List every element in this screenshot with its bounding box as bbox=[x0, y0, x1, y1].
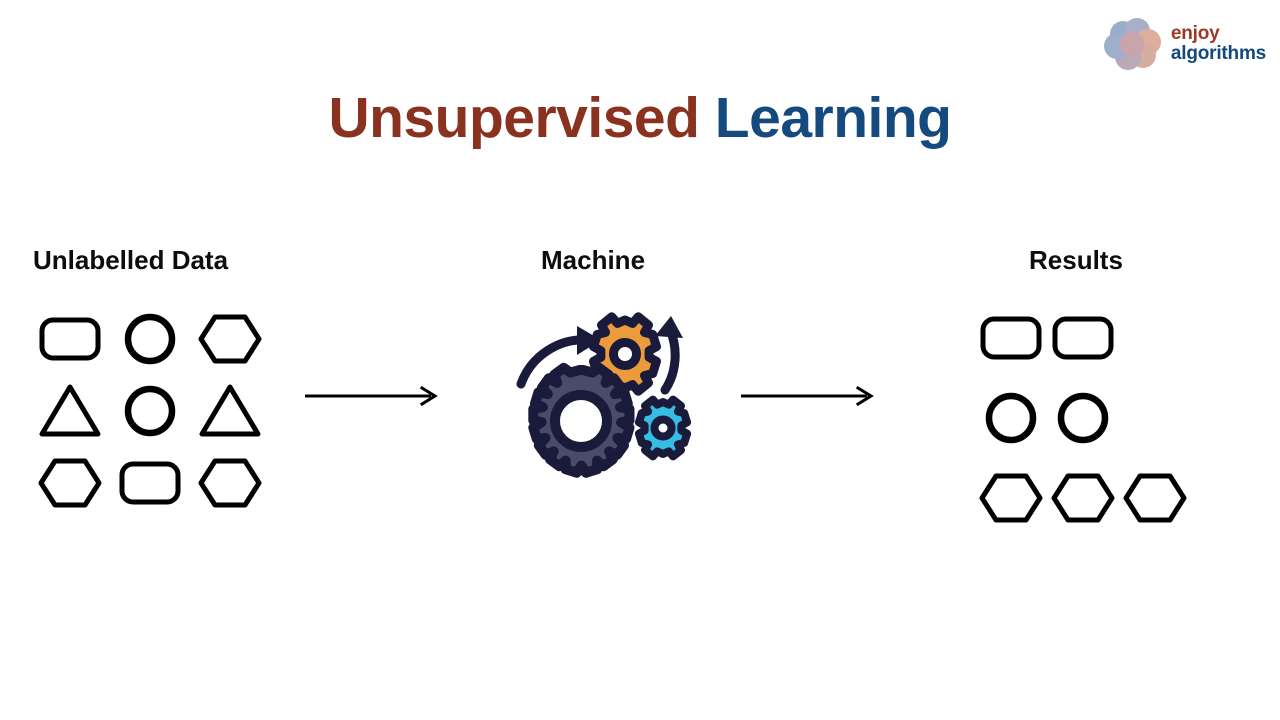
enjoy-algorithms-rosette-icon bbox=[1101, 18, 1163, 70]
shape-cell bbox=[1047, 385, 1119, 451]
hexagon-shape-icon bbox=[1122, 467, 1188, 529]
shape-cell bbox=[1047, 465, 1119, 531]
circle-shape-icon bbox=[1050, 387, 1116, 449]
brand-word-enjoy: enjoy bbox=[1171, 24, 1266, 44]
shape-cell bbox=[975, 385, 1047, 451]
large-gear-icon bbox=[533, 368, 629, 473]
flow-arrow-machine-to-results-icon bbox=[739, 385, 879, 407]
shape-cell bbox=[114, 378, 186, 444]
triangle-shape-icon bbox=[197, 380, 263, 442]
page-title-part-unsupervised: Unsupervised bbox=[328, 86, 699, 150]
shape-cell bbox=[34, 450, 106, 516]
shape-cell bbox=[34, 378, 106, 444]
rounded-rect-shape-icon bbox=[1050, 307, 1116, 369]
rotation-arrow-right-icon bbox=[655, 316, 683, 390]
brand-word-algorithms: algorithms bbox=[1171, 44, 1266, 64]
brand-wordmark: enjoy algorithms bbox=[1171, 24, 1266, 64]
shape-cell bbox=[114, 450, 186, 516]
shape-cell bbox=[194, 378, 266, 444]
hexagon-shape-icon bbox=[37, 452, 103, 514]
rounded-rect-shape-icon bbox=[978, 307, 1044, 369]
hexagon-shape-icon bbox=[197, 452, 263, 514]
shape-cell bbox=[1119, 465, 1191, 531]
results-shape-grid bbox=[975, 298, 1191, 538]
brand-logo[interactable]: enjoy algorithms bbox=[1101, 18, 1266, 70]
circle-shape-icon bbox=[117, 380, 183, 442]
shape-cell bbox=[114, 306, 186, 372]
hexagon-shape-icon bbox=[197, 308, 263, 370]
cyan-gear-icon bbox=[639, 400, 687, 457]
page-title-part-learning: Learning bbox=[715, 86, 952, 150]
column-label-results: Results bbox=[1029, 245, 1123, 276]
shape-cell bbox=[975, 305, 1047, 371]
shape-cell bbox=[194, 450, 266, 516]
unlabelled-data-shape-grid bbox=[30, 303, 270, 519]
shape-cell bbox=[975, 465, 1047, 531]
column-label-machine: Machine bbox=[541, 245, 645, 276]
shape-cell bbox=[34, 306, 106, 372]
hexagon-shape-icon bbox=[978, 467, 1044, 529]
circle-shape-icon bbox=[978, 387, 1044, 449]
gears-icon bbox=[515, 312, 700, 497]
hexagon-shape-icon bbox=[1050, 467, 1116, 529]
column-label-unlabelled-data: Unlabelled Data bbox=[33, 245, 228, 276]
triangle-shape-icon bbox=[37, 380, 103, 442]
rounded-rect-shape-icon bbox=[117, 452, 183, 514]
shape-cell bbox=[194, 306, 266, 372]
shape-cell bbox=[1047, 305, 1119, 371]
circle-shape-icon bbox=[117, 308, 183, 370]
flow-arrow-input-to-machine-icon bbox=[303, 385, 443, 407]
rounded-rect-shape-icon bbox=[37, 308, 103, 370]
page-title: Unsupervised Learning bbox=[0, 85, 1280, 151]
